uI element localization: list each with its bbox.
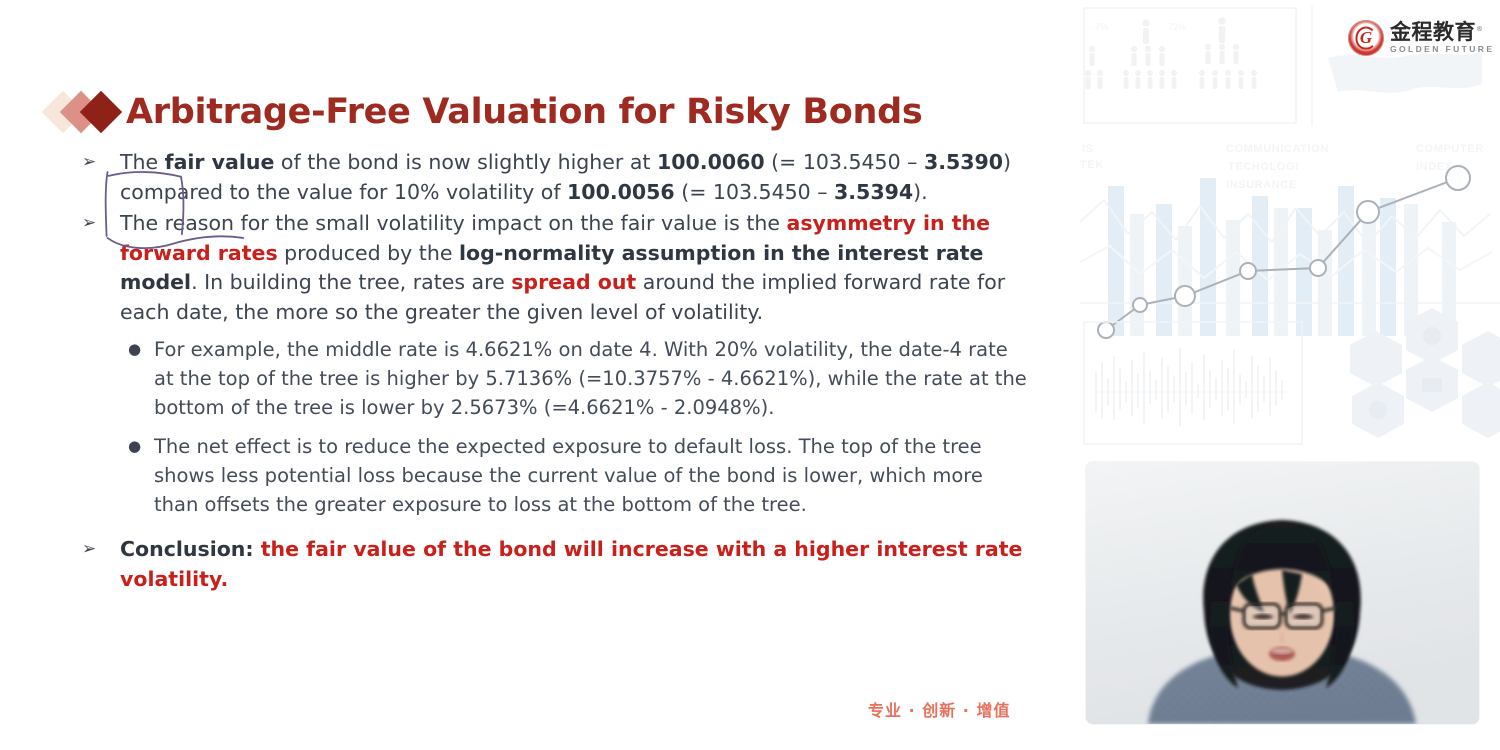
sub-bullet-text-1: For example, the middle rate is 4.6621% … [154, 335, 1028, 422]
logo-trademark: ® [1476, 25, 1484, 33]
conclusion-text: Conclusion: the fair value of the bond w… [120, 535, 1028, 594]
slide-body: ➢ The fair value of the bond is now slig… [78, 148, 1028, 596]
seg-text: ). [913, 180, 928, 204]
presenter-video-panel[interactable] [1086, 462, 1479, 724]
svg-text:COMMUNICATION: COMMUNICATION [1226, 143, 1329, 155]
page-title: Arbitrage-Free Valuation for Risky Bonds [126, 92, 922, 132]
conclusion-label: Conclusion: [120, 537, 261, 561]
sub-bullet-text-2: The net effect is to reduce the expected… [154, 432, 1028, 519]
arrow-bullet-icon: ➢ [78, 148, 120, 178]
slide-canvas: -7% 72% IS TEK COMMUNICATION TECHOLOGI I… [0, 0, 1500, 750]
logo-text-block: 金程教育® GOLDEN FUTURE [1390, 22, 1494, 54]
presenter-video-frame [1086, 462, 1479, 724]
svg-text:72%: 72% [1168, 22, 1186, 32]
seg-text: (= 103.5450 – [765, 150, 924, 174]
logo-chinese-name: 金程教育® [1390, 22, 1494, 43]
seg-text: (= 103.5450 – [675, 180, 834, 204]
svg-text:IS: IS [1082, 143, 1094, 155]
seg-red: spread out [511, 270, 636, 294]
bullet-item-1: ➢ The fair value of the bond is now slig… [78, 148, 1028, 207]
logo-seal-icon: G [1348, 20, 1384, 56]
seg-bold: 100.0060 [657, 150, 765, 174]
svg-text:TEK: TEK [1080, 159, 1104, 171]
seg-bold: fair value [165, 150, 275, 174]
bullet-text-1: The fair value of the bond is now slight… [120, 148, 1028, 207]
bullet-text-2: The reason for the small volatility impa… [120, 209, 1028, 327]
sub-bullet-group: ● For example, the middle rate is 4.6621… [126, 335, 1028, 519]
seg-bold: 3.5394 [834, 180, 913, 204]
seg-text: The reason for the small volatility impa… [120, 211, 787, 235]
logo-seal-letter: G [1360, 29, 1372, 46]
svg-text:TECHOLOGI: TECHOLOGI [1228, 161, 1299, 173]
seg-text: produced by the [278, 241, 459, 265]
seg-text: . In building the tree, rates are [191, 270, 511, 294]
logo-english-name: GOLDEN FUTURE [1390, 45, 1494, 54]
brand-logo: G 金程教育® GOLDEN FUTURE [1348, 20, 1494, 56]
sub-bullet-item-2: ● The net effect is to reduce the expect… [126, 432, 1028, 519]
diamond-cluster-icon [48, 89, 124, 135]
slide-title-row: Arbitrage-Free Valuation for Risky Bonds [48, 84, 922, 140]
seg-text: of the bond is now slightly higher at [274, 150, 657, 174]
footer-tagline: 专业 · 创新 · 增值 [868, 697, 1010, 721]
conclusion-item: ➢ Conclusion: the fair value of the bond… [78, 535, 1028, 594]
dot-bullet-icon: ● [126, 335, 154, 364]
svg-text:COMPUTER: COMPUTER [1416, 143, 1484, 155]
bullet-item-2: ➢ The reason for the small volatility im… [78, 209, 1028, 327]
arrow-bullet-icon: ➢ [78, 209, 120, 239]
seg-text: The [120, 150, 165, 174]
svg-text:INSURANCE: INSURANCE [1226, 179, 1297, 191]
dot-bullet-icon: ● [126, 432, 154, 461]
seg-bold: 3.5390 [924, 150, 1003, 174]
sub-bullet-item-1: ● For example, the middle rate is 4.6621… [126, 335, 1028, 422]
arrow-bullet-icon: ➢ [78, 535, 120, 565]
seg-bold: 100.0056 [567, 180, 675, 204]
svg-text:-7%: -7% [1092, 22, 1108, 32]
